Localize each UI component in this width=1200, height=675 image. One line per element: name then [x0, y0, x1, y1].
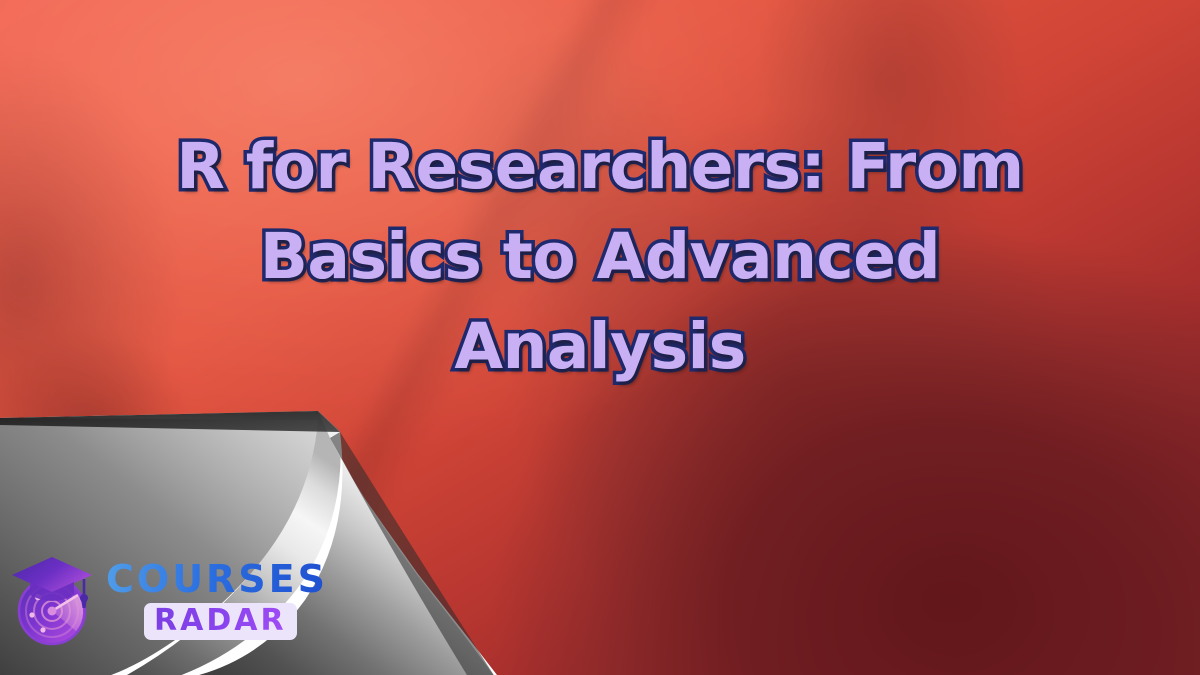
brand-line-courses: COURSES [106, 560, 328, 598]
brand-logo[interactable]: COURSES RADAR [8, 551, 328, 649]
course-thumbnail: R for Researchers: From Basics to Advanc… [0, 0, 1200, 675]
brand-line-radar-badge: RADAR [144, 603, 297, 640]
brand-wordmark: COURSES RADAR [106, 560, 328, 640]
brand-line-radar: RADAR [154, 605, 287, 637]
graduation-cap-radar-icon [8, 551, 96, 649]
page-title: R for Researchers: From Basics to Advanc… [0, 122, 1200, 392]
